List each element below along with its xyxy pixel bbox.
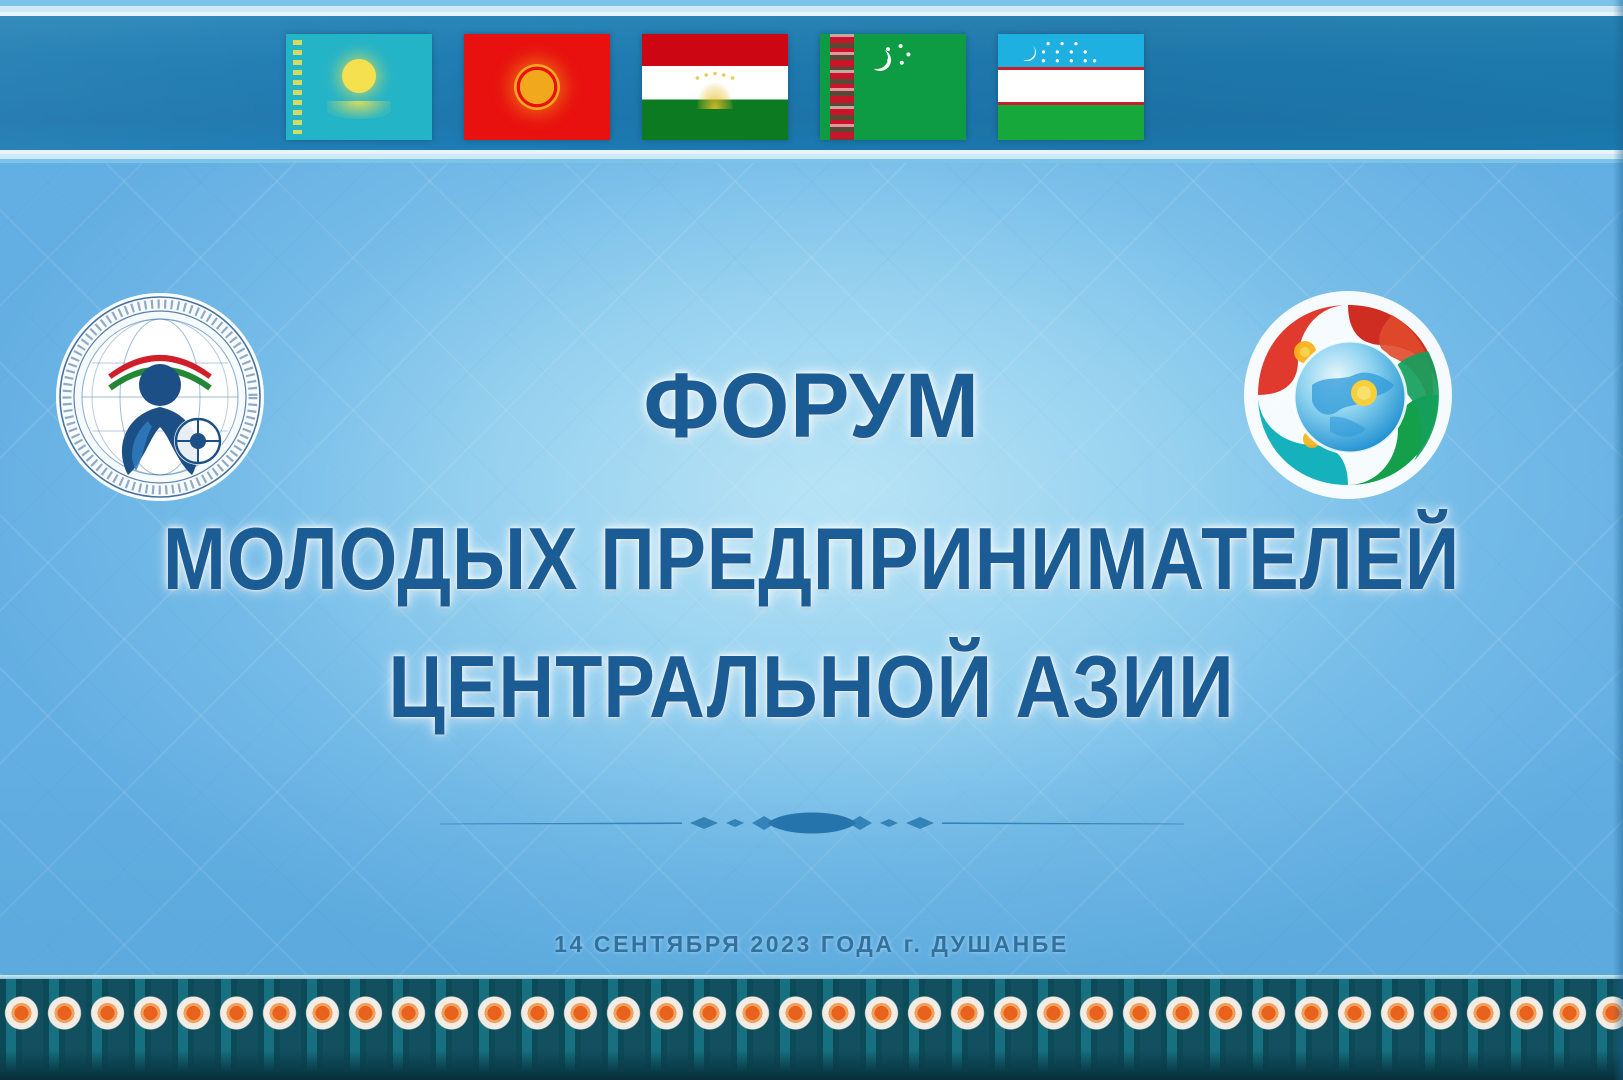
page-title-line-3: ЦЕНТРАЛЬНОЙ АЗИИ <box>97 641 1525 733</box>
uzbekistan-crescent-icon <box>1014 43 1031 60</box>
turkmenistan-stars-icon <box>882 44 912 70</box>
tajikistan-crown-icon <box>697 83 733 109</box>
ornamental-divider-icon <box>432 803 1192 843</box>
turkmenistan-carpet-stripe-icon <box>830 34 854 140</box>
flag-row <box>286 34 1144 140</box>
kazakhstan-ornament-icon <box>293 40 302 134</box>
kazakhstan-eagle-icon <box>327 101 391 119</box>
poster-canvas: ФОРУМ МОЛОДЫХ ПРЕДПРИНИМАТЕЛЕЙ ЦЕНТРАЛЬН… <box>0 0 1623 1080</box>
turkmenistan-crescent-icon <box>862 47 884 69</box>
flags-banner <box>0 0 1623 163</box>
uzbekistan-stars-icon <box>1040 40 1098 66</box>
page-title-line-2: МОЛОДЫХ ПРЕДПРИНИМАТЕЛЕЙ <box>114 513 1510 605</box>
turkmenistan-flag <box>820 34 966 140</box>
kazakhstan-flag <box>286 34 432 140</box>
banner-top-edge <box>0 0 1623 6</box>
poster-body: ФОРУМ МОЛОДЫХ ПРЕДПРИНИМАТЕЛЕЙ ЦЕНТРАЛЬН… <box>0 163 1623 975</box>
page-title-line-1: ФОРУМ <box>24 358 1598 454</box>
uzbekistan-flag <box>998 34 1144 140</box>
kyrgyzstan-tunduk-icon <box>529 79 546 96</box>
border-bottom-shadow <box>0 1050 1623 1080</box>
kazakhstan-sun-icon <box>342 59 376 93</box>
tajikistan-stars-icon <box>693 72 737 82</box>
date-location-text: 14 СЕНТЯБРЯ 2023 ГОДА г. ДУШАНБЕ <box>0 931 1623 958</box>
kyrgyzstan-flag <box>464 34 610 140</box>
tajikistan-flag <box>642 34 788 140</box>
tajik-medallion-border-icon <box>0 975 1623 1080</box>
